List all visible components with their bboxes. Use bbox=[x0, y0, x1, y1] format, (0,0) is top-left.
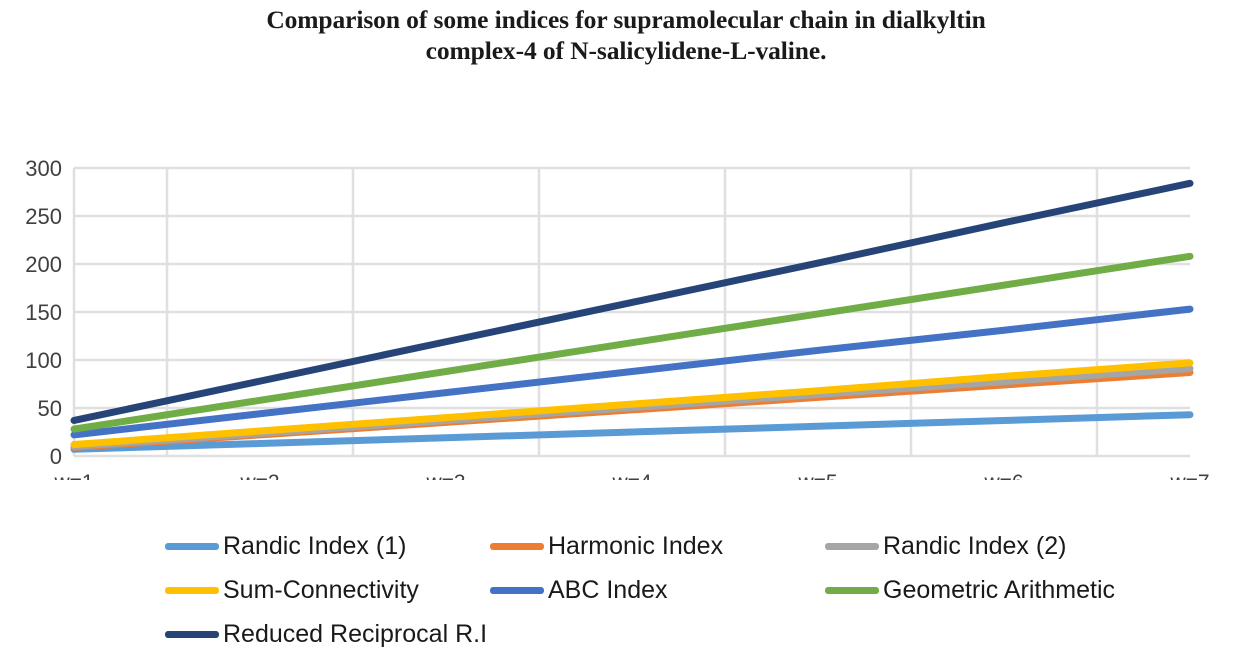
legend-color-swatch bbox=[490, 587, 544, 594]
legend-item[interactable]: Sum-Connectivity bbox=[165, 568, 419, 612]
xtick-label: w=3 bbox=[425, 471, 465, 480]
ytick-label: 0 bbox=[50, 444, 62, 469]
legend-color-swatch bbox=[165, 631, 219, 638]
legend-color-swatch bbox=[165, 543, 219, 550]
legend-color-swatch bbox=[165, 587, 219, 594]
legend-color-swatch bbox=[825, 587, 879, 594]
chart-container: Comparison of some indices for supramole… bbox=[0, 0, 1252, 663]
ytick-label: 250 bbox=[25, 204, 62, 229]
ytick-label: 100 bbox=[25, 348, 62, 373]
legend-label: Randic Index (2) bbox=[883, 534, 1066, 559]
xtick-label: w=1 bbox=[53, 471, 93, 480]
legend-item[interactable]: Geometric Arithmetic bbox=[825, 568, 1115, 612]
legend-color-swatch bbox=[490, 543, 544, 550]
legend-item[interactable]: Randic Index (2) bbox=[825, 524, 1066, 568]
ytick-label: 300 bbox=[25, 156, 62, 181]
xtick-label: w=4 bbox=[611, 471, 651, 480]
ytick-label: 150 bbox=[25, 300, 62, 325]
legend-label: ABC Index bbox=[548, 578, 668, 603]
ytick-label: 200 bbox=[25, 252, 62, 277]
chart-legend: Randic Index (1)Harmonic IndexRandic Ind… bbox=[0, 524, 1252, 663]
legend-item[interactable]: Randic Index (1) bbox=[165, 524, 406, 568]
legend-label: Randic Index (1) bbox=[223, 534, 406, 559]
legend-item[interactable]: Harmonic Index bbox=[490, 524, 723, 568]
legend-row: Reduced Reciprocal R.I bbox=[0, 612, 1252, 656]
data-lines bbox=[74, 183, 1190, 449]
legend-color-swatch bbox=[825, 543, 879, 550]
ytick-labels: 050100150200250300 bbox=[25, 156, 62, 469]
legend-label: Sum-Connectivity bbox=[223, 578, 419, 603]
legend-item[interactable]: ABC Index bbox=[490, 568, 668, 612]
legend-label: Geometric Arithmetic bbox=[883, 578, 1115, 603]
legend-row: Sum-ConnectivityABC IndexGeometric Arith… bbox=[0, 568, 1252, 612]
line-chart-svg: 050100150200250300 w=1w=2w=3w=4w=5w=6w=7 bbox=[0, 140, 1252, 480]
plot-area: 050100150200250300 w=1w=2w=3w=4w=5w=6w=7 bbox=[0, 140, 1252, 480]
legend-item[interactable]: Reduced Reciprocal R.I bbox=[165, 612, 487, 656]
xtick-labels: w=1w=2w=3w=4w=5w=6w=7 bbox=[53, 471, 1209, 480]
xtick-label: w=7 bbox=[1169, 471, 1209, 480]
xtick-label: w=5 bbox=[797, 471, 837, 480]
legend-row: Randic Index (1)Harmonic IndexRandic Ind… bbox=[0, 524, 1252, 568]
chart-title: Comparison of some indices for supramole… bbox=[246, 4, 1006, 66]
ytick-label: 50 bbox=[38, 396, 62, 421]
xtick-label: w=6 bbox=[983, 471, 1023, 480]
legend-label: Reduced Reciprocal R.I bbox=[223, 622, 487, 647]
xtick-label: w=2 bbox=[239, 471, 279, 480]
legend-label: Harmonic Index bbox=[548, 534, 723, 559]
